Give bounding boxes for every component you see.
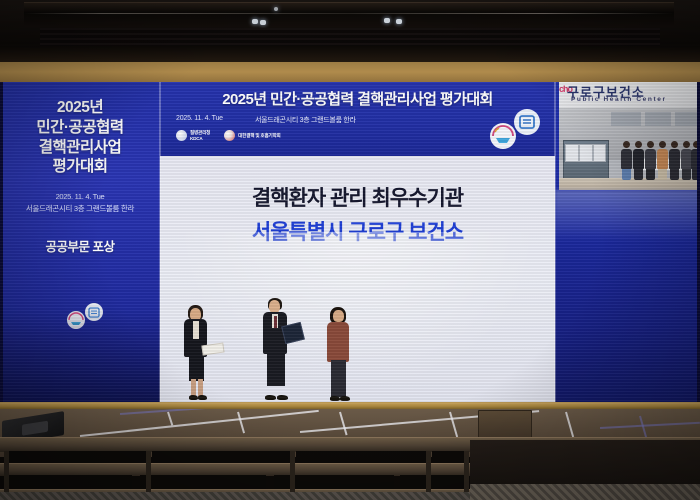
conference-stage-photo: 2025년 민간·공공협력 결핵관리사업 평가대회 2025. 11. 4. T… <box>0 0 700 500</box>
left-panel-title: 2025년 민간·공공협력 결핵관리사업 평가대회 <box>0 98 160 177</box>
screen-seam-right <box>554 82 556 404</box>
signboard-english-text: Public Health Center <box>571 96 667 103</box>
screen-banner-date: 2025. 11. 4. Tue <box>176 115 223 122</box>
screen-header-banner: 2025년 민간·공공협력 결핵관리사업 평가대회 2025. 11. 4. T… <box>160 82 555 156</box>
photo-person <box>657 141 668 180</box>
klrs-logo-icon <box>224 130 235 141</box>
left-panel-award-section: 공공부문 포상 <box>0 236 160 255</box>
photo-person <box>669 141 680 180</box>
org-logo-kdca-label: 질병관리청 KDCA <box>190 130 210 141</box>
screen-banner-badges <box>483 106 545 155</box>
photo-signboard: cho 구로구보건소 Public Health Center <box>559 82 700 108</box>
left-panel-shadow <box>0 308 160 404</box>
photo-person <box>621 141 632 180</box>
stage-person-presenter <box>178 305 212 405</box>
wall-wood-trim-top <box>0 62 700 84</box>
stage-person-host <box>258 298 292 406</box>
org-logo-klrs-label: 대한결핵 및 호흡기학회 <box>238 133 280 138</box>
ceiling-grille <box>40 28 660 46</box>
photo-person <box>633 141 644 180</box>
screen-banner-venue: 서울드래곤시티 3층 그랜드볼룸 한라 <box>255 115 356 125</box>
stage-front-lip <box>0 402 700 409</box>
left-panel-title-line-4: 평가대회 <box>4 157 156 177</box>
award-category-text: 결핵환자 관리 최우수기관 <box>160 182 555 212</box>
left-panel-title-line-3: 결핵관리사업 <box>4 138 156 158</box>
lighting-truss <box>24 2 674 27</box>
health-center-photo: cho 구로구보건소 Public Health Center 구로구 보건소 <box>559 82 700 190</box>
hall-ceiling <box>0 0 700 62</box>
screen-edge-left <box>0 82 3 404</box>
stage-monitor-box <box>478 410 532 439</box>
screen-seam-left <box>159 82 161 404</box>
org-logo-kdca: 질병관리청 KDCA <box>176 130 210 141</box>
stage-person-recipient <box>322 307 354 407</box>
org-logo-klrs: 대한결핵 및 호흡기학회 <box>224 130 280 141</box>
right-panel-fade <box>555 232 700 404</box>
floor-mat-left <box>0 492 470 500</box>
left-panel-venue: 서울드래곤시티 3층 그랜드볼룸 한라 <box>0 203 160 214</box>
floor-mat-right <box>470 484 700 500</box>
ceiling-band <box>0 46 700 62</box>
left-panel-title-line-1: 2025년 <box>4 98 156 118</box>
screen-org-logos: 질병관리청 KDCA 대한결핵 및 호흡기학회 <box>176 130 281 141</box>
screen-glow <box>160 232 555 404</box>
left-led-panel: 2025년 민간·공공협력 결핵관리사업 평가대회 2025. 11. 4. T… <box>0 82 160 404</box>
left-panel-subinfo: 2025. 11. 4. Tue 서울드래곤시티 3층 그랜드볼룸 한라 <box>0 191 160 214</box>
photo-person <box>645 141 656 180</box>
left-panel-date: 2025. 11. 4. Tue <box>0 191 160 202</box>
right-led-panel: cho 구로구보건소 Public Health Center 구로구 보건소 <box>555 82 700 404</box>
main-presentation-screen: 2025년 민간·공공협력 결핵관리사업 평가대회 2025. 11. 4. T… <box>160 82 555 404</box>
kdca-logo-icon <box>176 130 187 141</box>
left-panel-title-line-2: 민간·공공협력 <box>4 118 156 138</box>
